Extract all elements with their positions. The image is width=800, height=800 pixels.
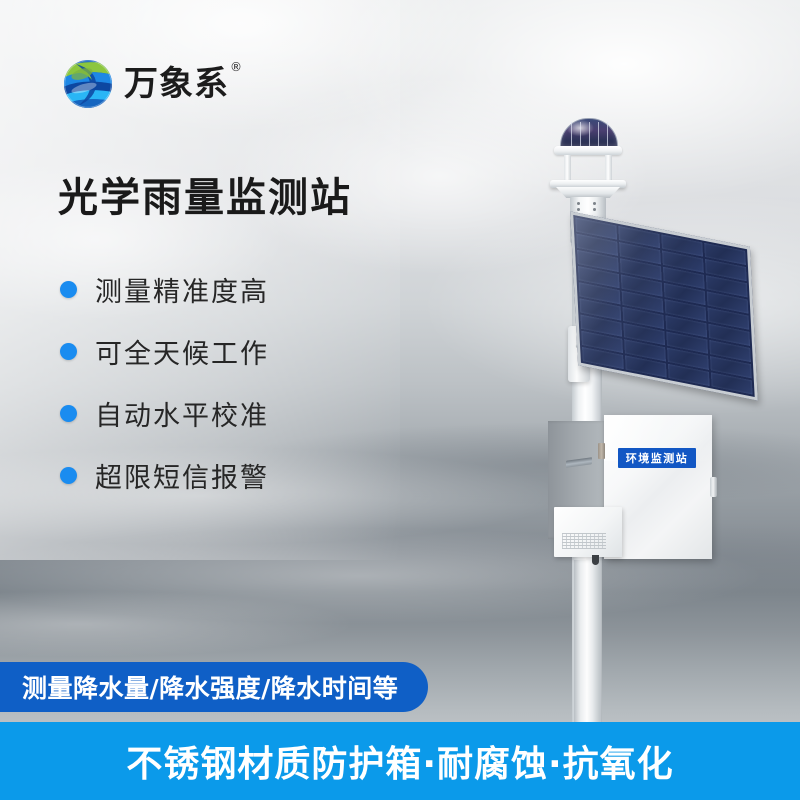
solar-panel-assembly (566, 222, 762, 400)
feature-list: 测量精准度高 可全天候工作 自动水平校准 超限短信报警 (60, 258, 380, 506)
page-title: 光学雨量监测站 (58, 165, 352, 223)
brand-logo: 万象系 ® (62, 58, 229, 110)
optical-rain-sensor-head (540, 118, 636, 228)
blue-dot-icon (60, 343, 77, 360)
solar-panel-glare (573, 215, 754, 397)
blue-dot-icon (60, 281, 77, 298)
bottom-feature-bar: 不锈钢材质防护箱·耐腐蚀·抗氧化 (0, 722, 800, 800)
enclosure-label: 环境监测站 (618, 448, 696, 468)
registered-trademark-icon: ® (230, 61, 243, 73)
solar-panel (570, 211, 758, 400)
stainless-steel-enclosure: 环境监测站 (548, 415, 712, 567)
enclosure-latch (710, 477, 717, 497)
feature-item: 测量精准度高 (60, 258, 380, 320)
brand-name-text: 万象系 (124, 64, 229, 104)
swirling-globe-icon (62, 58, 114, 110)
measurement-banner: 测量降水量/降水强度/降水时间等 (0, 662, 428, 712)
enclosure-label-text: 环境监测站 (626, 450, 689, 466)
enclosure-sub-module (554, 507, 622, 557)
enclosure-cable-gland (592, 555, 599, 565)
blue-dot-icon (60, 405, 77, 422)
feature-label: 自动水平校准 (95, 394, 269, 433)
brand-name: 万象系 ® (124, 67, 229, 101)
feature-item: 可全天候工作 (60, 320, 380, 382)
sub-module-grille (562, 533, 606, 549)
enclosure-hinge-top (598, 443, 605, 459)
sensor-rain-shield (550, 180, 626, 188)
blue-dot-icon (60, 467, 77, 484)
product-poster: 环境监测站 (0, 0, 800, 800)
sensor-collar (554, 146, 622, 155)
feature-label: 测量精准度高 (95, 270, 269, 309)
feature-label: 可全天候工作 (95, 332, 269, 371)
bottom-feature-bar-text: 不锈钢材质防护箱·耐腐蚀·抗氧化 (126, 735, 673, 787)
feature-item: 自动水平校准 (60, 382, 380, 444)
feature-item: 超限短信报警 (60, 444, 380, 506)
enclosure-vent-slot (566, 457, 592, 468)
feature-label: 超限短信报警 (95, 456, 269, 495)
sensor-post-left (564, 155, 571, 181)
measurement-banner-text: 测量降水量/降水强度/降水时间等 (22, 669, 398, 705)
sensor-post-right (605, 155, 612, 181)
